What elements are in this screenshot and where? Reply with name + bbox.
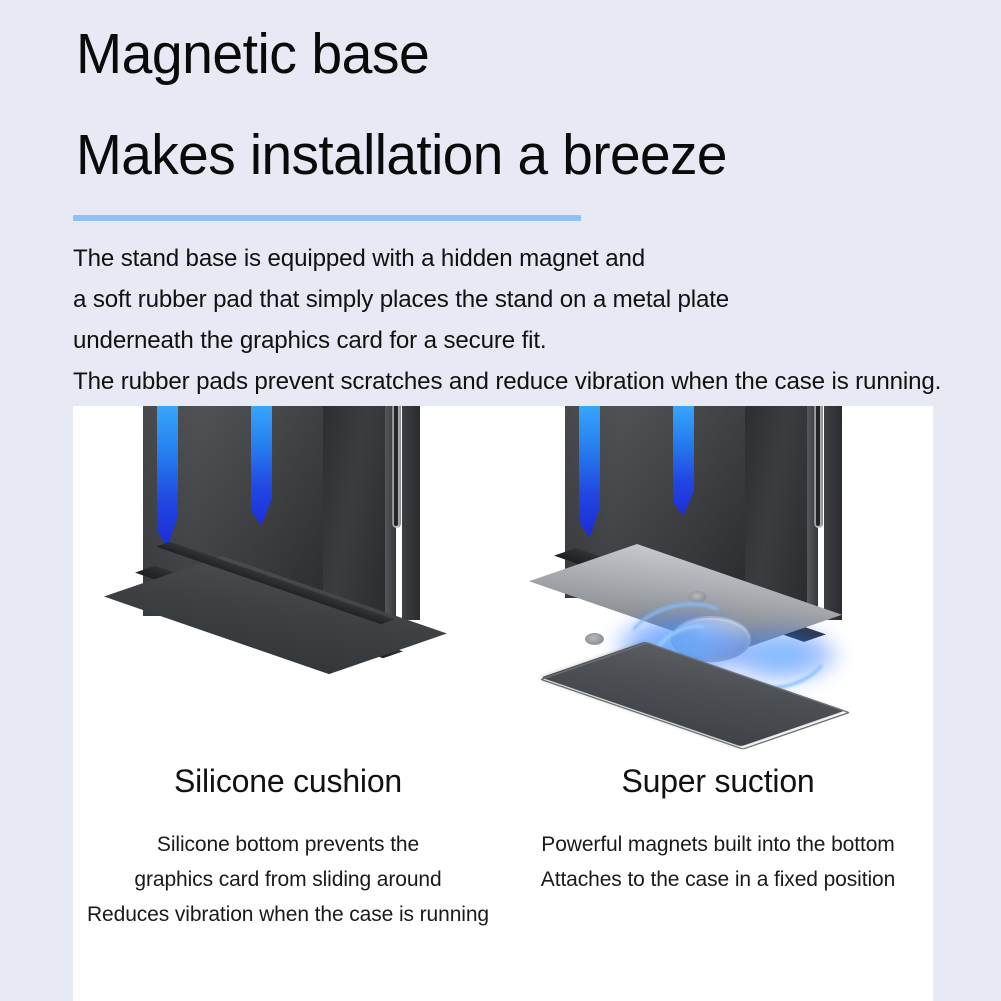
intro-line: The rubber pads prevent scratches and re… (73, 361, 960, 402)
product-photo-panel: Silicone cushion Silicone bottom prevent… (73, 406, 933, 1001)
feature-description: Powerful magnets built into the bottom A… (503, 827, 933, 897)
column-back-edge (402, 406, 420, 620)
feature-caption-super-suction: Super suction Powerful magnets built int… (503, 761, 933, 897)
column-side-face (323, 406, 385, 620)
feature-line: Powerful magnets built into the bottom (503, 827, 933, 862)
column-back-edge (824, 406, 842, 620)
intro-line: a soft rubber pad that simply places the… (73, 279, 960, 320)
headline-block: Magnetic base Makes installation a breez… (76, 18, 936, 192)
feature-title: Super suction (503, 761, 933, 801)
intro-line: underneath the graphics card for a secur… (73, 320, 960, 361)
product-image-silicone-cushion (73, 406, 503, 786)
feature-description: Silicone bottom prevents the graphics ca… (73, 827, 503, 932)
product-image-super-suction (503, 406, 933, 786)
intro-line: The stand base is equipped with a hidden… (73, 238, 960, 279)
blue-accent-stripe (157, 406, 178, 548)
feature-line: Reduces vibration when the case is runni… (73, 897, 503, 932)
accent-divider (73, 215, 581, 221)
screw-hole (688, 591, 707, 603)
adjustment-slot-inner (394, 406, 398, 526)
adjustment-slot-inner (816, 406, 820, 526)
feature-caption-silicone-cushion: Silicone cushion Silicone bottom prevent… (73, 761, 503, 932)
feature-line: Attaches to the case in a fixed position (503, 862, 933, 897)
blue-accent-stripe (673, 406, 694, 516)
intro-paragraph: The stand base is equipped with a hidden… (73, 238, 973, 402)
feature-line: graphics card from sliding around (73, 862, 503, 897)
feature-line: Silicone bottom prevents the (73, 827, 503, 862)
blue-accent-stripe (579, 406, 600, 538)
headline-secondary: Makes installation a breeze (76, 118, 906, 192)
feature-title: Silicone cushion (73, 761, 503, 801)
headline-primary: Magnetic base (76, 18, 910, 90)
blue-accent-stripe (251, 406, 272, 526)
screw-hole (585, 633, 604, 645)
product-feature-page: Magnetic base Makes installation a breez… (0, 0, 1001, 1001)
